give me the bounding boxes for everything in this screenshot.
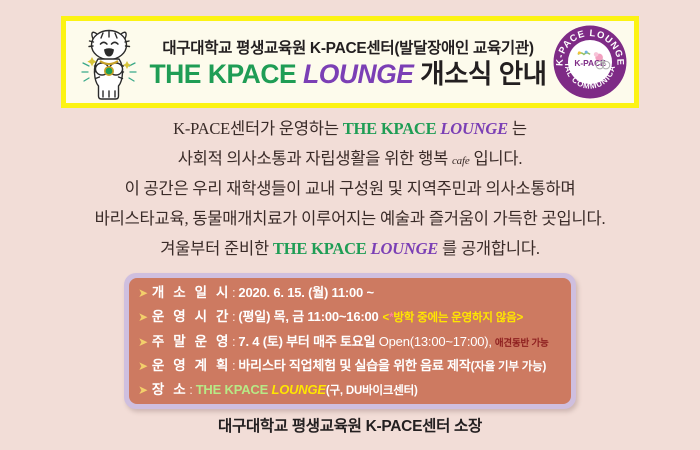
- intro-line-1-green: THE KPACE: [343, 119, 437, 138]
- detail-place-rest: (구, DU바이크센터): [326, 385, 418, 399]
- bullet-icon: ➤: [138, 286, 148, 300]
- white-tiger-mascot-icon: [70, 21, 148, 103]
- detail-place-green: THE KPACE: [196, 382, 268, 398]
- event-details-inner: ➤ 개 소 일 시 : 2020. 6. 15. (월) 11:00 ~ ➤ 운…: [129, 278, 571, 404]
- detail-label-weekend: 주 말 운 영: [152, 334, 231, 350]
- banner-title-dark: 개소식 안내: [420, 59, 546, 89]
- detail-separator: :: [232, 358, 235, 374]
- intro-line-5-a: 겨울부터 준비한: [160, 239, 273, 258]
- banner-title: THE KPACE LOUNGE 개소식 안내: [148, 60, 548, 89]
- detail-value-plan: 바리스타 직업체험 및 실습을 위한 음료 제작: [238, 358, 470, 374]
- detail-row-weekend: ➤ 주 말 운 영 : 7. 4 (토) 부터 매주 토요일 Open(13:0…: [138, 334, 562, 350]
- detail-label-plan: 운 영 계 획: [152, 358, 231, 374]
- intro-line-5-green: THE KPACE: [273, 239, 367, 258]
- intro-line-2-a: 사회적 의사소통과 자립생활을 위한 행복: [178, 149, 452, 168]
- intro-line-2: 사회적 의사소통과 자립생활을 위한 행복 cafe 입니다.: [0, 148, 700, 169]
- detail-place-yellow: LOUNGE: [271, 382, 325, 398]
- bullet-icon: ➤: [138, 359, 148, 373]
- detail-row-hours: ➤ 운 영 시 간 : (평일) 목, 금 11:00~16:00 <*방학 중…: [138, 309, 562, 326]
- intro-paragraph: K-PACE센터가 운영하는 THE KPACE LOUNGE 는 사회적 의사…: [0, 118, 700, 269]
- organization-line: 대구대학교 평생교육원 K-PACE센터(발달장애인 교육기관): [148, 36, 548, 58]
- intro-line-1: K-PACE센터가 운영하는 THE KPACE LOUNGE 는: [0, 118, 700, 139]
- detail-label-hours: 운 영 시 간: [152, 309, 231, 325]
- detail-value-hours: (평일) 목, 금 11:00~16:00: [238, 309, 378, 325]
- detail-value-weekend: 7. 4 (토) 부터 매주 토요일: [238, 334, 375, 350]
- intro-line-5-purple: LOUNGE: [371, 239, 439, 258]
- detail-note-pets: 애견동반 가능: [495, 338, 549, 349]
- bullet-icon: ➤: [138, 383, 148, 397]
- detail-separator: :: [232, 334, 235, 350]
- detail-label-open-date: 개 소 일 시: [152, 285, 231, 301]
- note-close-bracket: >: [517, 312, 524, 324]
- intro-line-3: 이 공간은 우리 재학생들이 교내 구성원 및 지역주민과 의사소통하며: [0, 178, 700, 199]
- detail-row-plan: ➤ 운 영 계 획 : 바리스타 직업체험 및 실습을 위한 음료 제작(자율 …: [138, 358, 562, 375]
- footer-signature: 대구대학교 평생교육원 K-PACE센터 소장: [0, 414, 700, 436]
- detail-value-open-date: 2020. 6. 15. (월) 11:00 ~: [238, 285, 373, 301]
- detail-value-weekend-open: Open(13:00~17:00),: [379, 334, 492, 350]
- banner-text-block: 대구대학교 평생교육원 K-PACE센터(발달장애인 교육기관) THE KPA…: [148, 36, 552, 89]
- intro-line-5: 겨울부터 준비한 THE KPACE LOUNGE 를 공개합니다.: [0, 238, 700, 259]
- intro-line-4: 바리스타교육, 동물매개치료가 이루어지는 예술과 즐거움이 가득한 곳입니다.: [0, 208, 700, 229]
- banner-title-green: THE KPACE: [149, 59, 296, 89]
- detail-note-hours: <*방학 중에는 운영하지 않음>: [383, 312, 524, 326]
- kpace-lounge-seal-logo: K-PACE LOUNGE SOCIAL COMMUNICATION K-PAC…: [552, 24, 628, 100]
- bullet-icon: ➤: [138, 335, 148, 349]
- event-details-box: ➤ 개 소 일 시 : 2020. 6. 15. (월) 11:00 ~ ➤ 운…: [124, 273, 576, 409]
- detail-separator: :: [232, 309, 235, 325]
- intro-line-1-a: K-PACE센터가 운영하는: [173, 119, 343, 138]
- bullet-icon: ➤: [138, 310, 148, 324]
- header-banner: 대구대학교 평생교육원 K-PACE센터(발달장애인 교육기관) THE KPA…: [61, 16, 639, 108]
- detail-label-place: 장 소: [152, 382, 188, 398]
- intro-cafe-word: cafe: [452, 155, 470, 167]
- intro-line-1-purple: LOUNGE: [440, 119, 508, 138]
- banner-title-purple: LOUNGE: [303, 59, 413, 89]
- detail-row-open-date: ➤ 개 소 일 시 : 2020. 6. 15. (월) 11:00 ~: [138, 285, 562, 301]
- detail-value-plan-paren: (자율 기부 가능): [471, 361, 547, 375]
- detail-row-place: ➤ 장 소 : THE KPACE LOUNGE(구, DU바이크센터): [138, 382, 562, 399]
- intro-line-5-b: 를 공개합니다.: [438, 239, 540, 258]
- detail-separator: :: [232, 285, 235, 301]
- intro-line-2-b: 입니다.: [470, 149, 523, 168]
- intro-line-1-b: 는: [508, 119, 527, 138]
- detail-separator: :: [189, 382, 192, 398]
- note-text: 방학 중에는 운영하지 않음: [393, 312, 516, 324]
